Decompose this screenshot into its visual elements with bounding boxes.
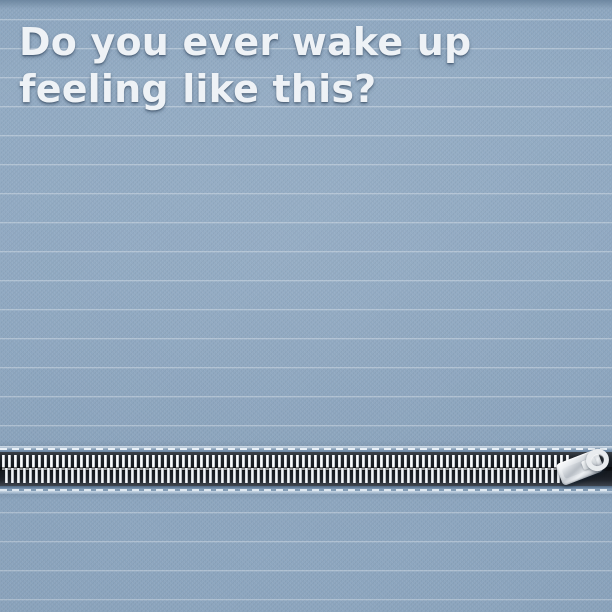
zipper-pull-icon [556,446,612,494]
image-canvas: Do you ever wake up feeling like this? [0,0,612,612]
zipper-tape-sheen [0,452,612,486]
fabric-top-shadow-band [0,0,612,9]
zipper-lower-fabric-shadow [0,494,612,500]
caption-text: Do you ever wake up feeling like this? [19,19,579,113]
zipper-tape [0,452,612,486]
zipper [0,440,612,498]
